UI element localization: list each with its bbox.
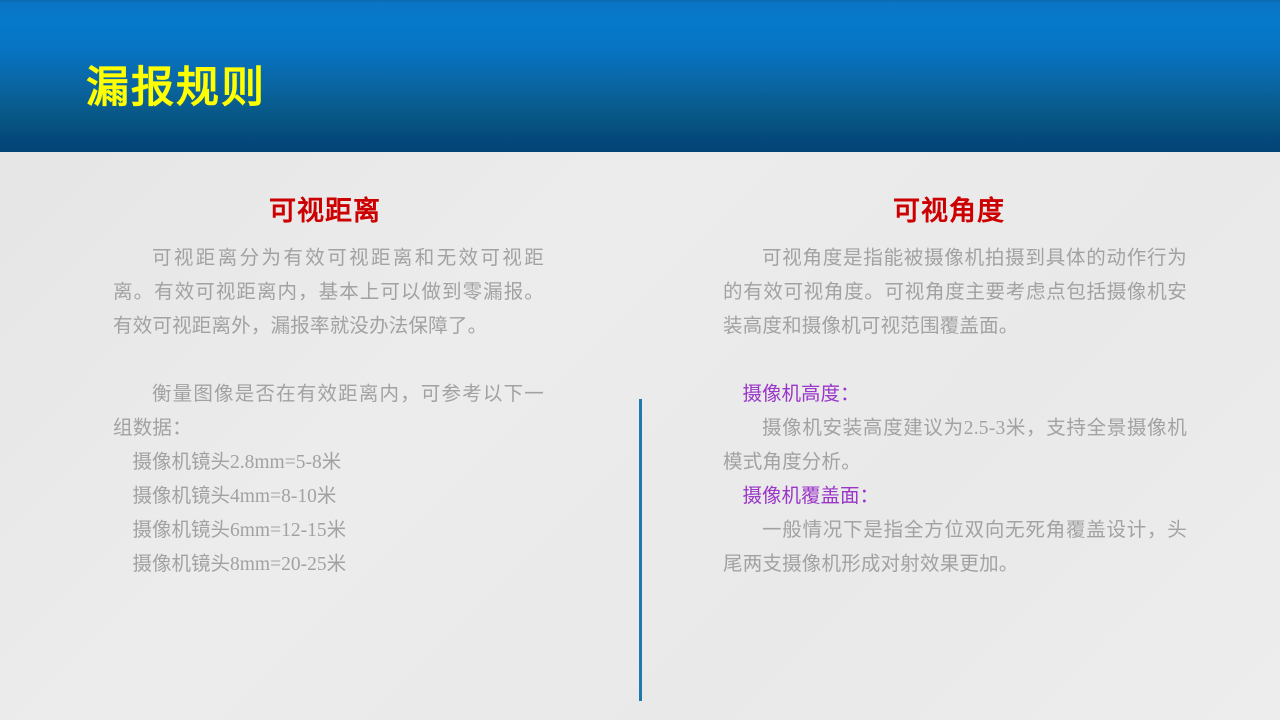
- lens-distance-list: 摄像机镜头2.8mm=5-8米 摄像机镜头4mm=8-10米 摄像机镜头6mm=…: [97, 446, 547, 582]
- list-item: 摄像机镜头2.8mm=5-8米: [113, 446, 547, 480]
- slide: 漏报规则 可视距离 可视距离分为有效可视距离和无效可视距离。有效可视距离内，基本…: [0, 0, 1280, 720]
- list-item: 摄像机镜头6mm=12-15米: [113, 514, 547, 548]
- content-area: 可视距离 可视距离分为有效可视距离和无效可视距离。有效可视距离内，基本上可以做到…: [0, 152, 1280, 720]
- right-paragraph-1: 可视角度是指能被摄像机拍摄到具体的动作行为的有效可视角度。可视角度主要考虑点包括…: [708, 242, 1188, 344]
- subsection-camera-height-body: 摄像机安装高度建议为2.5-3米，支持全景摄像机模式角度分析。: [708, 412, 1188, 480]
- left-column: 可视距离 可视距离分为有效可视距离和无效可视距离。有效可视距离内，基本上可以做到…: [97, 152, 547, 598]
- right-column-heading: 可视角度: [708, 152, 1188, 229]
- left-paragraph-1: 可视距离分为有效可视距离和无效可视距离。有效可视距离内，基本上可以做到零漏报。有…: [97, 242, 547, 344]
- subheading-camera-height: 摄像机高度：: [708, 378, 1188, 412]
- list-item: 摄像机镜头8mm=20-25米: [113, 548, 547, 582]
- subheading-camera-coverage: 摄像机覆盖面：: [708, 480, 1188, 514]
- left-paragraph-2: 衡量图像是否在有效距离内，可参考以下一组数据：: [97, 378, 547, 446]
- column-divider: [639, 399, 642, 701]
- subsection-camera-coverage-body: 一般情况下是指全方位双向无死角覆盖设计，头尾两支摄像机形成对射效果更加。: [708, 514, 1188, 582]
- header-top-accent-line: [0, 0, 1280, 2]
- page-title: 漏报规则: [86, 64, 266, 113]
- header-band: 漏报规则: [0, 0, 1280, 152]
- list-item: 摄像机镜头4mm=8-10米: [113, 480, 547, 514]
- right-column: 可视角度 可视角度是指能被摄像机拍摄到具体的动作行为的有效可视角度。可视角度主要…: [708, 152, 1188, 582]
- left-column-heading: 可视距离: [97, 152, 547, 229]
